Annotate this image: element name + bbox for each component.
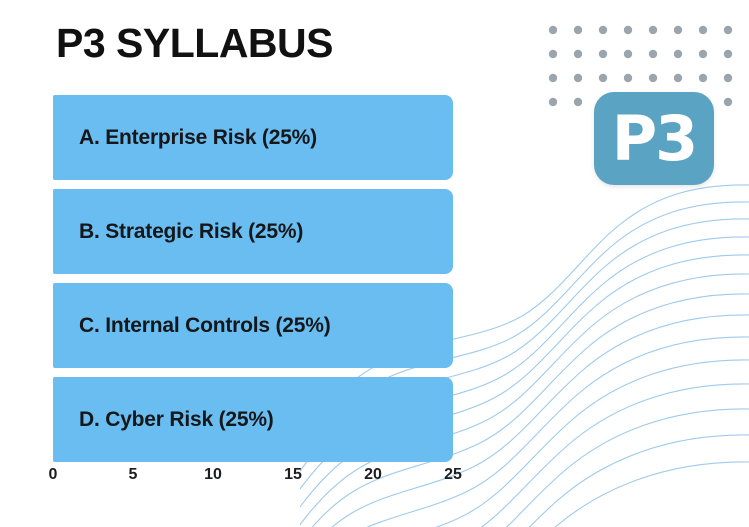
syllabus-bar-chart: A. Enterprise Risk (25%)B. Strategic Ris… <box>53 95 453 462</box>
x-tick-label: 0 <box>49 466 58 484</box>
x-tick-label: 25 <box>444 466 462 484</box>
x-tick-label: 5 <box>129 466 138 484</box>
slide-canvas: P3 P3 SYLLABUS A. Enterprise Risk (25%)B… <box>0 0 749 527</box>
x-tick-label: 15 <box>284 466 302 484</box>
x-axis: 0510152025 <box>53 466 453 490</box>
p3-logo-text: P3 <box>594 92 714 185</box>
page-title: P3 SYLLABUS <box>56 19 333 67</box>
x-tick-label: 20 <box>364 466 382 484</box>
bar-label: C. Internal Controls (25%) <box>79 283 331 368</box>
bar-label: A. Enterprise Risk (25%) <box>79 95 317 180</box>
bar-row: C. Internal Controls (25%) <box>53 283 453 368</box>
bar-label: B. Strategic Risk (25%) <box>79 189 303 274</box>
bar-label: D. Cyber Risk (25%) <box>79 377 274 462</box>
p3-logo-badge: P3 <box>594 92 714 185</box>
bar-row: A. Enterprise Risk (25%) <box>53 95 453 180</box>
x-tick-label: 10 <box>204 466 222 484</box>
bar-row: B. Strategic Risk (25%) <box>53 189 453 274</box>
bar-row: D. Cyber Risk (25%) <box>53 377 453 462</box>
